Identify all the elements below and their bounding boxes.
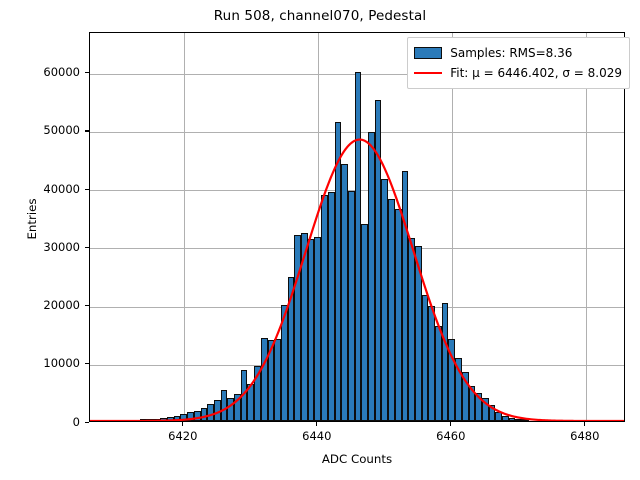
x-tick-label: 6460: [411, 429, 491, 443]
legend-label-fit: Fit: μ = 6446.402, σ = 8.029: [450, 66, 622, 80]
y-tick-label: 20000: [0, 298, 80, 312]
x-axis-label: ADC Counts: [89, 452, 625, 466]
y-tick-label: 0: [0, 415, 80, 429]
legend-patch-icon: [414, 47, 442, 59]
y-tick-label: 40000: [0, 182, 80, 196]
x-tick-mark: [316, 422, 317, 426]
page-title: Run 508, channel070, Pedestal: [0, 8, 640, 24]
plot-area: [89, 32, 625, 422]
y-tick-label: 10000: [0, 356, 80, 370]
matplotlib-figure: Run 508, channel070, Pedestal Entries AD…: [0, 0, 640, 480]
y-tick-label: 50000: [0, 123, 80, 137]
legend-line-icon: [414, 67, 442, 79]
x-tick-label: 6440: [277, 429, 357, 443]
legend-item-samples: Samples: RMS=8.36: [414, 43, 622, 63]
x-tick-mark: [182, 422, 183, 426]
legend-label-samples: Samples: RMS=8.36: [450, 46, 572, 60]
gaussian-fit-curve: [90, 33, 624, 421]
y-tick-label: 30000: [0, 240, 80, 254]
chart-legend: Samples: RMS=8.36 Fit: μ = 6446.402, σ =…: [407, 37, 630, 89]
x-tick-mark: [450, 422, 451, 426]
x-tick-label: 6420: [143, 429, 223, 443]
legend-item-fit: Fit: μ = 6446.402, σ = 8.029: [414, 63, 622, 83]
y-tick-label: 60000: [0, 65, 80, 79]
x-tick-label: 6480: [545, 429, 625, 443]
x-tick-mark: [584, 422, 585, 426]
